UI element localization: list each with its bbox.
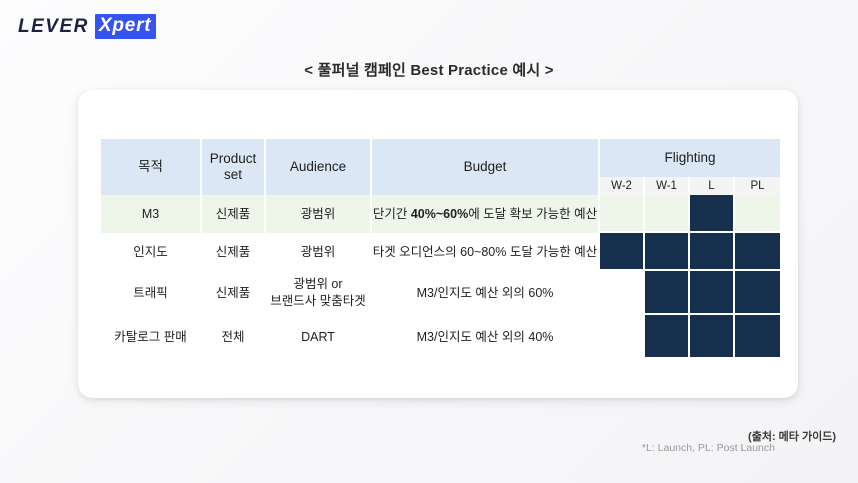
flighting-cell-w2 — [600, 315, 645, 359]
flighting-cell-pl — [735, 315, 780, 359]
flighting-cell-l — [690, 315, 735, 359]
row-budget-pre: M3/인지도 예산 외의 60% — [417, 286, 554, 300]
row-audience-line2: 브랜드사 맞춤타겟 — [270, 294, 365, 308]
flighting-cell-l — [690, 233, 735, 271]
row-product-set: 신제품 — [202, 233, 266, 271]
row-budget: M3/인지도 예산 외의 40% — [372, 315, 600, 359]
flighting-week-w1: W-1 — [645, 177, 690, 195]
row-budget: 단기간 40%~60%에 도달 확보 가능한 예산 — [372, 195, 600, 233]
flighting-cell-w2 — [600, 271, 645, 315]
slide-canvas: LEVER Xpert < 풀퍼널 캠페인 Best Practice 예시 >… — [0, 0, 858, 483]
row-audience: 광범위 — [266, 195, 372, 233]
row-budget: M3/인지도 예산 외의 60% — [372, 271, 600, 315]
row-purpose: M3 — [101, 195, 202, 233]
row-product-set: 신제품 — [202, 271, 266, 315]
page-title: < 풀퍼널 캠페인 Best Practice 예시 > — [0, 59, 858, 80]
flighting-cell-w1 — [645, 195, 690, 233]
flighting-cell-w2 — [600, 233, 645, 271]
row-audience: 광범위 — [266, 233, 372, 271]
flighting-week-l: L — [690, 177, 735, 195]
row-budget-pre: 단기간 — [373, 207, 411, 221]
table-header-row: 목적 Product set Audience Budget Flighting — [101, 139, 780, 177]
row-audience: 광범위 or 브랜드사 맞춤타겟 — [266, 271, 372, 315]
row-audience: DART — [266, 315, 372, 359]
best-practice-table: 목적 Product set Audience Budget Flighting… — [101, 139, 780, 359]
row-product-set: 신제품 — [202, 195, 266, 233]
row-budget-pre: M3/인지도 예산 외의 40% — [417, 330, 554, 344]
row-audience-line1: 광범위 — [301, 207, 336, 221]
row-budget: 타겟 오디언스의 60~80% 도달 가능한 예산 — [372, 233, 600, 271]
flighting-cell-w1 — [645, 233, 690, 271]
row-purpose: 인지도 — [101, 233, 202, 271]
flighting-cell-pl — [735, 195, 780, 233]
flighting-week-w2: W-2 — [600, 177, 645, 195]
header-audience: Audience — [266, 139, 372, 195]
brand-logo: LEVER Xpert — [18, 14, 156, 39]
row-purpose: 트래픽 — [101, 271, 202, 315]
flighting-cell-pl — [735, 271, 780, 315]
source-note: (출처: 메타 가이드) — [748, 428, 836, 444]
row-budget-pre: 타겟 오디언스의 60~80% 도달 가능한 예산 — [373, 245, 598, 259]
flighting-cell-w1 — [645, 315, 690, 359]
flighting-cell-w2 — [600, 195, 645, 233]
table-row: 트래픽 신제품 광범위 or 브랜드사 맞춤타겟 M3/인지도 예산 외의 60… — [101, 271, 780, 315]
flighting-cell-l — [690, 271, 735, 315]
header-budget: Budget — [372, 139, 600, 195]
row-purpose: 카탈로그 판매 — [101, 315, 202, 359]
flighting-cell-pl — [735, 233, 780, 271]
header-purpose: 목적 — [101, 139, 202, 195]
table-row: M3 신제품 광범위 단기간 40%~60%에 도달 확보 가능한 예산 — [101, 195, 780, 233]
row-audience-line1: 광범위 or — [293, 277, 342, 291]
content-card: 목적 Product set Audience Budget Flighting… — [78, 90, 798, 398]
header-product-set-line1: Product — [210, 151, 257, 166]
table-row: 카탈로그 판매 전체 DART M3/인지도 예산 외의 40% — [101, 315, 780, 359]
row-audience-line1: DART — [301, 330, 335, 344]
header-flighting: Flighting — [600, 139, 780, 177]
row-budget-post: 에 도달 확보 가능한 예산 — [468, 207, 597, 221]
row-budget-bold: 40%~60% — [411, 207, 468, 221]
logo-lever-text: LEVER — [18, 16, 89, 38]
row-audience-line1: 광범위 — [301, 245, 336, 259]
table-row: 인지도 신제품 광범위 타겟 오디언스의 60~80% 도달 가능한 예산 — [101, 233, 780, 271]
row-product-set: 전체 — [202, 315, 266, 359]
header-product-set-line2: set — [224, 167, 242, 182]
flighting-week-pl: PL — [735, 177, 780, 195]
flighting-cell-l — [690, 195, 735, 233]
logo-xpert-text: Xpert — [95, 14, 157, 39]
flighting-cell-w1 — [645, 271, 690, 315]
header-product-set: Product set — [202, 139, 266, 195]
